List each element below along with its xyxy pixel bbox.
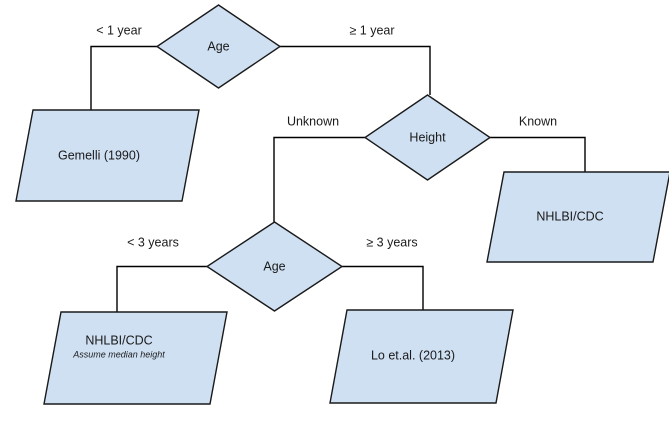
flowchart-svg: Age Gemelli (1990) Height NHLBI/CDC Age bbox=[0, 0, 669, 433]
node-height[interactable]: Height bbox=[365, 95, 490, 180]
node-height-label: Height bbox=[409, 130, 446, 144]
edge-label-lt-3-years: < 3 years bbox=[127, 235, 179, 249]
node-gemelli-1990-label: Gemelli (1990) bbox=[58, 148, 140, 162]
node-nhlbi-cdc-median-sublabel: Assume median height bbox=[72, 349, 165, 359]
edge-label-lt-1-year: < 1 year bbox=[96, 23, 142, 37]
node-nhlbi-cdc-median-label: NHLBI/CDC bbox=[85, 333, 152, 347]
edge-label-unknown: Unknown bbox=[287, 114, 339, 128]
edge-label-ge-3-years: ≥ 3 years bbox=[366, 235, 417, 249]
node-lo-etal-2013[interactable]: Lo et.al. (2013) bbox=[330, 310, 513, 403]
node-lo-etal-2013-label: Lo et.al. (2013) bbox=[371, 348, 455, 362]
flowchart-canvas: Age Gemelli (1990) Height NHLBI/CDC Age bbox=[0, 0, 669, 433]
node-gemelli-1990[interactable]: Gemelli (1990) bbox=[16, 110, 199, 201]
node-nhlbi-cdc-median[interactable]: NHLBI/CDC Assume median height bbox=[44, 312, 227, 404]
connector-age-lt-3-years bbox=[117, 267, 207, 313]
node-nhlbi-cdc-known[interactable]: NHLBI/CDC bbox=[487, 172, 669, 262]
connector-age-ge-1-year bbox=[280, 47, 430, 96]
node-age-height-unknown[interactable]: Age bbox=[207, 222, 342, 311]
edge-label-ge-1-year: ≥ 1 year bbox=[349, 23, 394, 37]
node-age-height-unknown-label: Age bbox=[263, 259, 285, 273]
connector-age-ge-3-years bbox=[342, 267, 423, 311]
connector-age-lt-1-year bbox=[91, 47, 157, 111]
node-nhlbi-cdc-known-label: NHLBI/CDC bbox=[536, 209, 603, 223]
node-age-root[interactable]: Age bbox=[157, 5, 280, 88]
node-age-root-label: Age bbox=[207, 39, 229, 53]
node-group: Age Gemelli (1990) Height NHLBI/CDC Age bbox=[16, 5, 669, 404]
connector-height-known bbox=[490, 138, 585, 173]
connector-height-unknown bbox=[274, 138, 365, 223]
edge-label-known: Known bbox=[519, 114, 557, 128]
